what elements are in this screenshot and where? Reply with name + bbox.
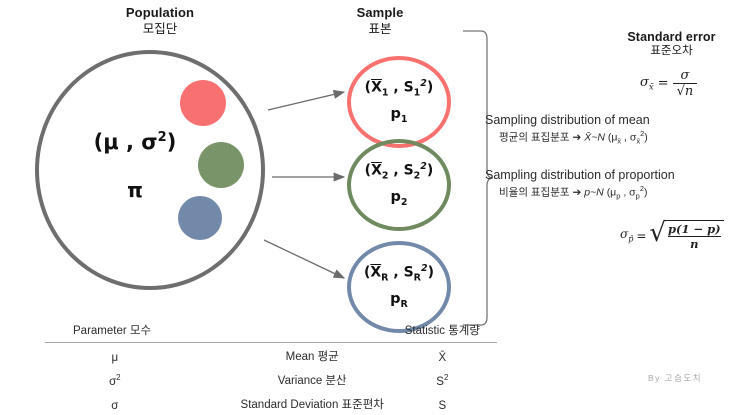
row-3-parameter-symbol: σ: [111, 399, 118, 411]
table-header-statistic: Statistic 통계량: [388, 322, 497, 343]
sample-r-mean-symbol: X: [370, 265, 381, 281]
sampling-proportion-detail: 비율의 표집분포 ➔ p~N (μp , σp2): [485, 184, 743, 201]
table-row: σ Standard Deviation 표준편차 S: [45, 391, 497, 415]
proportion-error-sigma-subscript: p̂: [628, 235, 633, 244]
sample-2-proportion: p2: [390, 188, 407, 209]
standard-error-heading: Standard error 표준오차: [600, 30, 743, 59]
proportion-error-denominator: n: [668, 236, 721, 251]
sample-r-sd-symbol: S: [404, 265, 414, 281]
table-row: μ Mean 평균 X̄: [45, 343, 497, 368]
sampling-mean-params-close: ): [644, 132, 648, 144]
sampling-proportion-params-comma: , σ: [620, 187, 635, 199]
sample-2-close-paren: ): [427, 163, 433, 179]
row-1-statistic: X̄: [388, 343, 497, 368]
sampling-distribution-proportion: Sampling distribution of proportion 비율의 …: [485, 168, 743, 201]
population-heading: Population 모집단: [60, 6, 260, 36]
sample-circle-2: (X2 , S22) p2: [347, 139, 451, 231]
table-header-row: Parameter 모수 Statistic 통계량: [45, 322, 497, 343]
row-2-parameter-exponent: 2: [116, 373, 120, 382]
sample-1-comma: ,: [389, 80, 404, 96]
sample-2-proportion-subscript: 2: [401, 197, 408, 208]
sample-1-mean-symbol: X: [371, 80, 382, 96]
sample-r-close-paren: ): [428, 265, 434, 281]
sample-1-mean-subscript: 1: [382, 87, 389, 98]
sampling-mean-detail: 평균의 표집분포 ➔ X̄~N (μx̄ , σx̄2): [485, 129, 743, 146]
row-3-name: Standard Deviation 표준편차: [237, 391, 388, 415]
table-body: μ Mean 평균 X̄ σ2 Variance 분산 S2 σ Standar…: [45, 343, 497, 415]
sample-r-sd-exponent: 2: [421, 263, 428, 274]
parameter-statistic-table: Parameter 모수 Statistic 통계량 μ Mean 평균 X̄ …: [45, 322, 497, 415]
sample-r-proportion-symbol: p: [390, 291, 400, 307]
population-green-dot: [198, 142, 244, 188]
standard-error-sigma: σ: [640, 75, 649, 90]
sampling-mean-title-ko: 평균의 표집분포: [499, 132, 570, 144]
sample-2-sd-symbol: S: [404, 163, 414, 179]
sampling-proportion-title-ko: 비율의 표집분포: [499, 187, 570, 199]
sample-1-proportion-subscript: 1: [401, 114, 408, 125]
standard-error-equals: =: [658, 76, 669, 91]
sample-r-proportion: pR: [390, 290, 408, 311]
standard-error-numerator: σ: [676, 68, 693, 83]
sample-2-proportion-symbol: p: [390, 189, 400, 205]
proportion-error-numerator: p(1 − p): [668, 222, 721, 236]
row-2-statistic-exponent: 2: [444, 373, 448, 382]
population-blue-dot: [178, 196, 222, 240]
sampling-distribution-mean: Sampling distribution of mean 평균의 표집분포 ➔…: [485, 113, 743, 146]
sampling-mean-arrow-icon: ➔: [572, 132, 581, 144]
proportion-error-lhs: σp̂: [620, 227, 633, 243]
sampling-mean-title-en: Sampling distribution of mean: [485, 113, 743, 127]
proportion-error-equals: =: [636, 229, 646, 243]
author-watermark: By 고슴도치: [648, 372, 702, 384]
row-3-statistic-symbol: S: [439, 399, 447, 411]
sample-1-proportion-symbol: p: [390, 106, 400, 122]
standard-error-lhs: σx̄: [640, 75, 654, 93]
sample-r-mean-subscript: R: [381, 272, 388, 283]
arrow-population-to-sample-3: [264, 240, 344, 278]
row-1-parameter-symbol: μ: [112, 351, 119, 363]
sample-title-en: Sample: [320, 6, 440, 21]
row-2-statistic: S2: [388, 367, 497, 391]
sample-2-sd-exponent: 2: [420, 161, 427, 172]
table-row: σ2 Variance 분산 S2: [45, 367, 497, 391]
population-parameters-exponent: 2: [158, 130, 167, 145]
table-header: Parameter 모수 Statistic 통계량: [45, 322, 497, 343]
diagram-canvas: Population 모집단 Sample 표본 Standard error …: [0, 0, 743, 414]
standard-error-denominator: √n: [673, 83, 698, 99]
population-parameters: (μ , σ2): [70, 130, 200, 154]
sample-title-ko: 표본: [320, 22, 440, 36]
sample-2-mean-symbol: X: [371, 163, 382, 179]
proportion-error-sigma: σ: [620, 227, 628, 241]
sample-r-comma: ,: [389, 265, 404, 281]
population-parameters-base: (μ , σ: [94, 130, 158, 154]
sampling-proportion-title-en: Sampling distribution of proportion: [485, 168, 743, 182]
sampling-proportion-params-open: (μ: [607, 187, 617, 199]
radical-icon: √: [649, 220, 666, 251]
sampling-mean-params-open: (μ: [608, 132, 618, 144]
sample-2-sd-subscript: 2: [414, 170, 421, 181]
row-1-statistic-symbol: X̄: [439, 351, 447, 363]
arrow-population-to-sample-1: [268, 92, 344, 110]
sampling-mean-notation: X̄~N: [584, 132, 605, 144]
sample-circle-1: (X1 , S12) p1: [347, 56, 451, 148]
sample-1-sd-exponent: 2: [420, 78, 427, 89]
sampling-proportion-arrow-icon: ➔: [572, 187, 581, 199]
population-title-ko: 모집단: [60, 22, 260, 36]
standard-error-title-en: Standard error: [600, 30, 743, 44]
table-header-name: [237, 322, 388, 343]
table-header-parameter: Parameter 모수: [45, 322, 237, 343]
sample-1-sd-subscript: 1: [414, 87, 421, 98]
row-1-name: Mean 평균: [237, 343, 388, 368]
population-parameters-close: ): [167, 130, 177, 154]
row-2-statistic-symbol: S: [436, 375, 444, 387]
sampling-mean-params-comma: , σ: [621, 132, 636, 144]
population-proportion: π: [70, 178, 200, 202]
sample-1-close-paren: ): [427, 80, 433, 96]
sampling-proportion-params-close: ): [644, 187, 648, 199]
row-1-parameter: μ: [45, 343, 237, 368]
sample-1-statistics: (X1 , S12): [365, 78, 434, 99]
population-red-dot: [180, 80, 226, 126]
standard-error-sigma-subscript: x̄: [649, 82, 654, 92]
sample-r-proportion-subscript: R: [401, 299, 408, 310]
proportion-standard-error-formula: σp̂ = √ p(1 − p) n: [620, 220, 724, 251]
row-3-parameter: σ: [45, 391, 237, 415]
sampling-proportion-notation: p~N: [584, 187, 604, 199]
population-title-en: Population: [60, 6, 260, 21]
sample-circle-r: (XR , SR2) pR: [347, 241, 451, 333]
standard-error-fraction: σ √n: [673, 68, 698, 99]
proportion-error-sqrt: √ p(1 − p) n: [649, 220, 723, 251]
sample-2-statistics: (X2 , S22): [365, 161, 434, 182]
proportion-error-radicand: p(1 − p) n: [665, 220, 724, 251]
sample-heading: Sample 표본: [320, 6, 440, 36]
standard-error-title-ko: 표준오차: [600, 45, 743, 58]
row-2-name: Variance 분산: [237, 367, 388, 391]
sample-1-sd-symbol: S: [404, 80, 414, 96]
sample-2-comma: ,: [389, 163, 404, 179]
standard-error-formula: σx̄ = σ √n: [640, 68, 697, 99]
row-2-parameter: σ2: [45, 367, 237, 391]
sample-2-mean-subscript: 2: [382, 170, 389, 181]
sample-r-sd-subscript: R: [414, 272, 421, 283]
sample-r-statistics: (XR , SR2): [364, 263, 434, 284]
sample-1-proportion: p1: [390, 105, 407, 126]
row-3-statistic: S: [388, 391, 497, 415]
